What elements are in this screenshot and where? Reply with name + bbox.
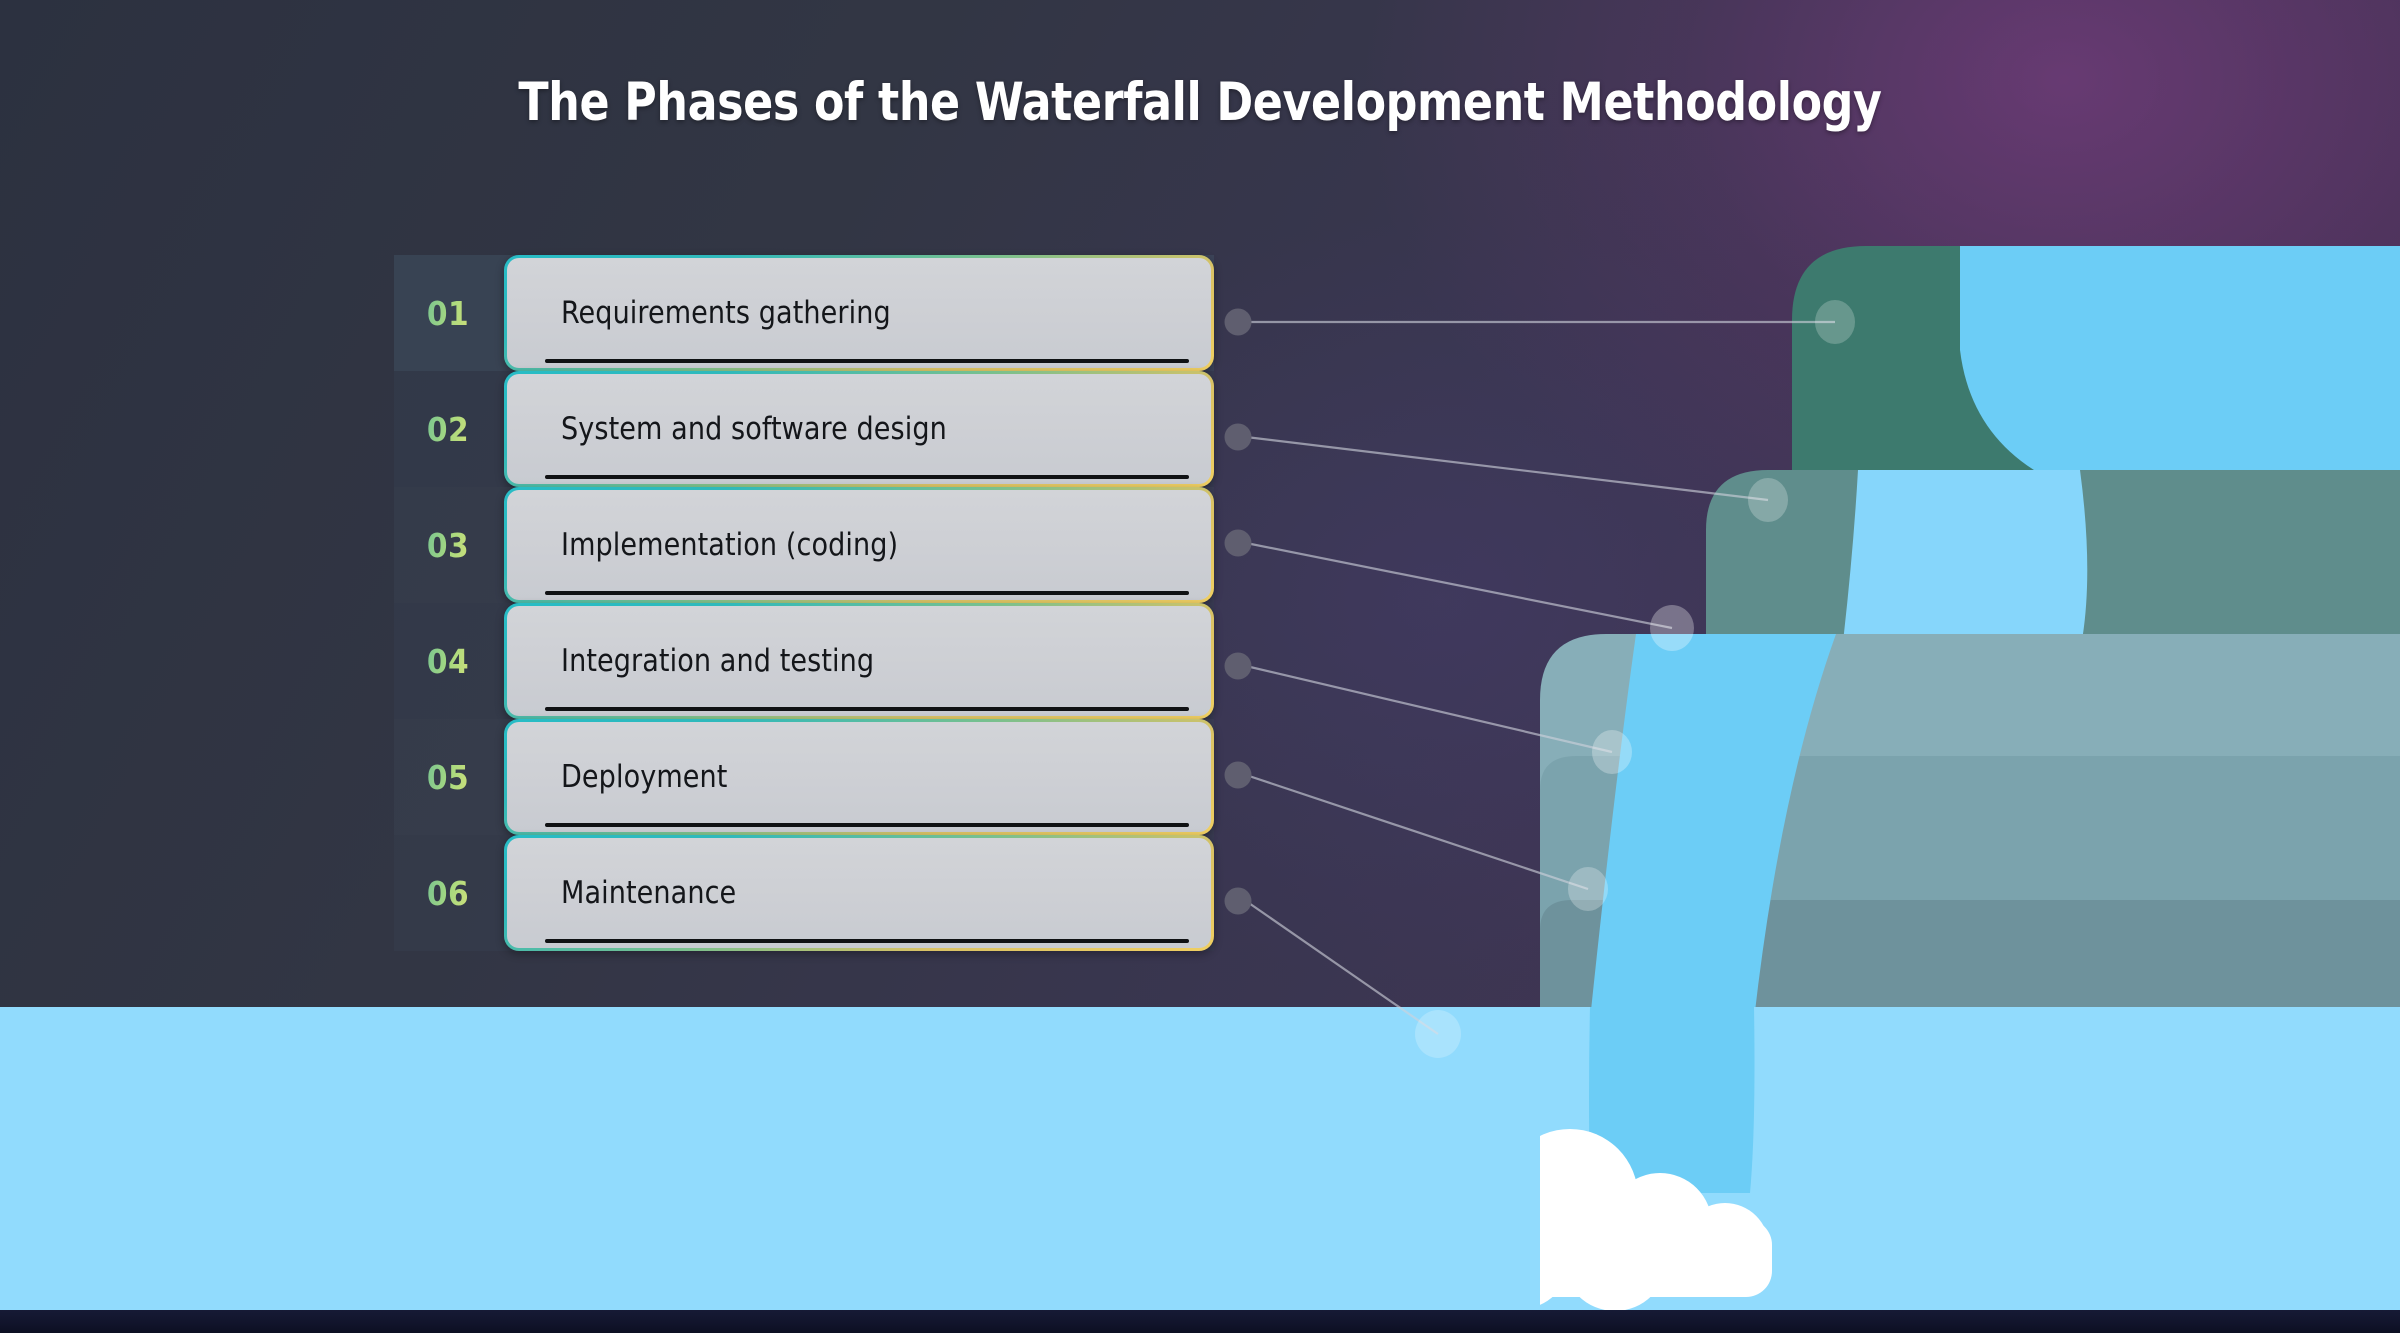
connector-dot-2 — [1225, 424, 1252, 451]
phase-number-5: 05 — [427, 758, 469, 797]
phase-row-2[interactable]: 02 System and software design — [394, 371, 1214, 487]
phase-number-6: 06 — [427, 874, 469, 913]
phase-label-2: System and software design — [561, 411, 947, 447]
phase-label-3: Implementation (coding) — [561, 527, 898, 563]
phase-row-1[interactable]: 01 Requirements gathering — [394, 255, 1214, 371]
connector-line-5 — [1246, 775, 1588, 889]
phase-list: 01 Requirements gathering 02 System and … — [394, 255, 1214, 951]
connector-dot-4 — [1225, 653, 1252, 680]
connector-dot-5 — [1225, 762, 1252, 789]
anchor-dot-1 — [1815, 300, 1855, 344]
phase-number-cell-5: 05 — [394, 719, 502, 835]
phase-label-5: Deployment — [561, 759, 727, 795]
phase-number-1: 01 — [427, 294, 469, 333]
connector-dot-6 — [1225, 888, 1252, 915]
infographic-canvas: The Phases of the Waterfall Development … — [0, 0, 2400, 1333]
connector-dot-1 — [1225, 309, 1252, 336]
phase-label-6: Maintenance — [561, 875, 736, 911]
phase-row-4[interactable]: 04 Integration and testing — [394, 603, 1214, 719]
phase-number-cell-6: 06 — [394, 835, 502, 951]
phase-number-cell-2: 02 — [394, 371, 502, 487]
phase-number-2: 02 — [427, 410, 469, 449]
phase-card-1[interactable]: Requirements gathering — [504, 255, 1214, 371]
phase-row-3[interactable]: 03 Implementation (coding) — [394, 487, 1214, 603]
connector-dot-3 — [1225, 530, 1252, 557]
anchor-dot-2 — [1748, 478, 1788, 522]
bottom-strip — [0, 1310, 2400, 1333]
phase-row-6[interactable]: 06 Maintenance — [394, 835, 1214, 951]
phase-row-5[interactable]: 05 Deployment — [394, 719, 1214, 835]
phase-underline-3 — [545, 591, 1189, 595]
anchor-dot-5 — [1568, 867, 1608, 911]
phase-number-3: 03 — [427, 526, 469, 565]
anchor-dot-3 — [1650, 605, 1694, 651]
phase-card-2[interactable]: System and software design — [504, 371, 1214, 487]
phase-underline-1 — [545, 359, 1189, 363]
phase-number-cell-3: 03 — [394, 487, 502, 603]
phase-card-6[interactable]: Maintenance — [504, 835, 1214, 951]
anchor-dot-4 — [1592, 730, 1632, 774]
phase-card-4[interactable]: Integration and testing — [504, 603, 1214, 719]
phase-number-4: 04 — [427, 642, 469, 681]
page-title: The Phases of the Waterfall Development … — [84, 72, 2316, 133]
waterfall-base-svg — [1540, 1007, 2400, 1317]
phase-underline-5 — [545, 823, 1189, 827]
phase-label-4: Integration and testing — [561, 643, 874, 679]
phase-card-3[interactable]: Implementation (coding) — [504, 487, 1214, 603]
phase-number-cell-1: 01 — [394, 255, 502, 371]
anchor-dot-6 — [1415, 1010, 1461, 1058]
phase-underline-4 — [545, 707, 1189, 711]
phase-card-5[interactable]: Deployment — [504, 719, 1214, 835]
phase-underline-2 — [545, 475, 1189, 479]
phase-number-cell-4: 04 — [394, 603, 502, 719]
phase-underline-6 — [545, 939, 1189, 943]
phase-label-1: Requirements gathering — [561, 295, 891, 331]
